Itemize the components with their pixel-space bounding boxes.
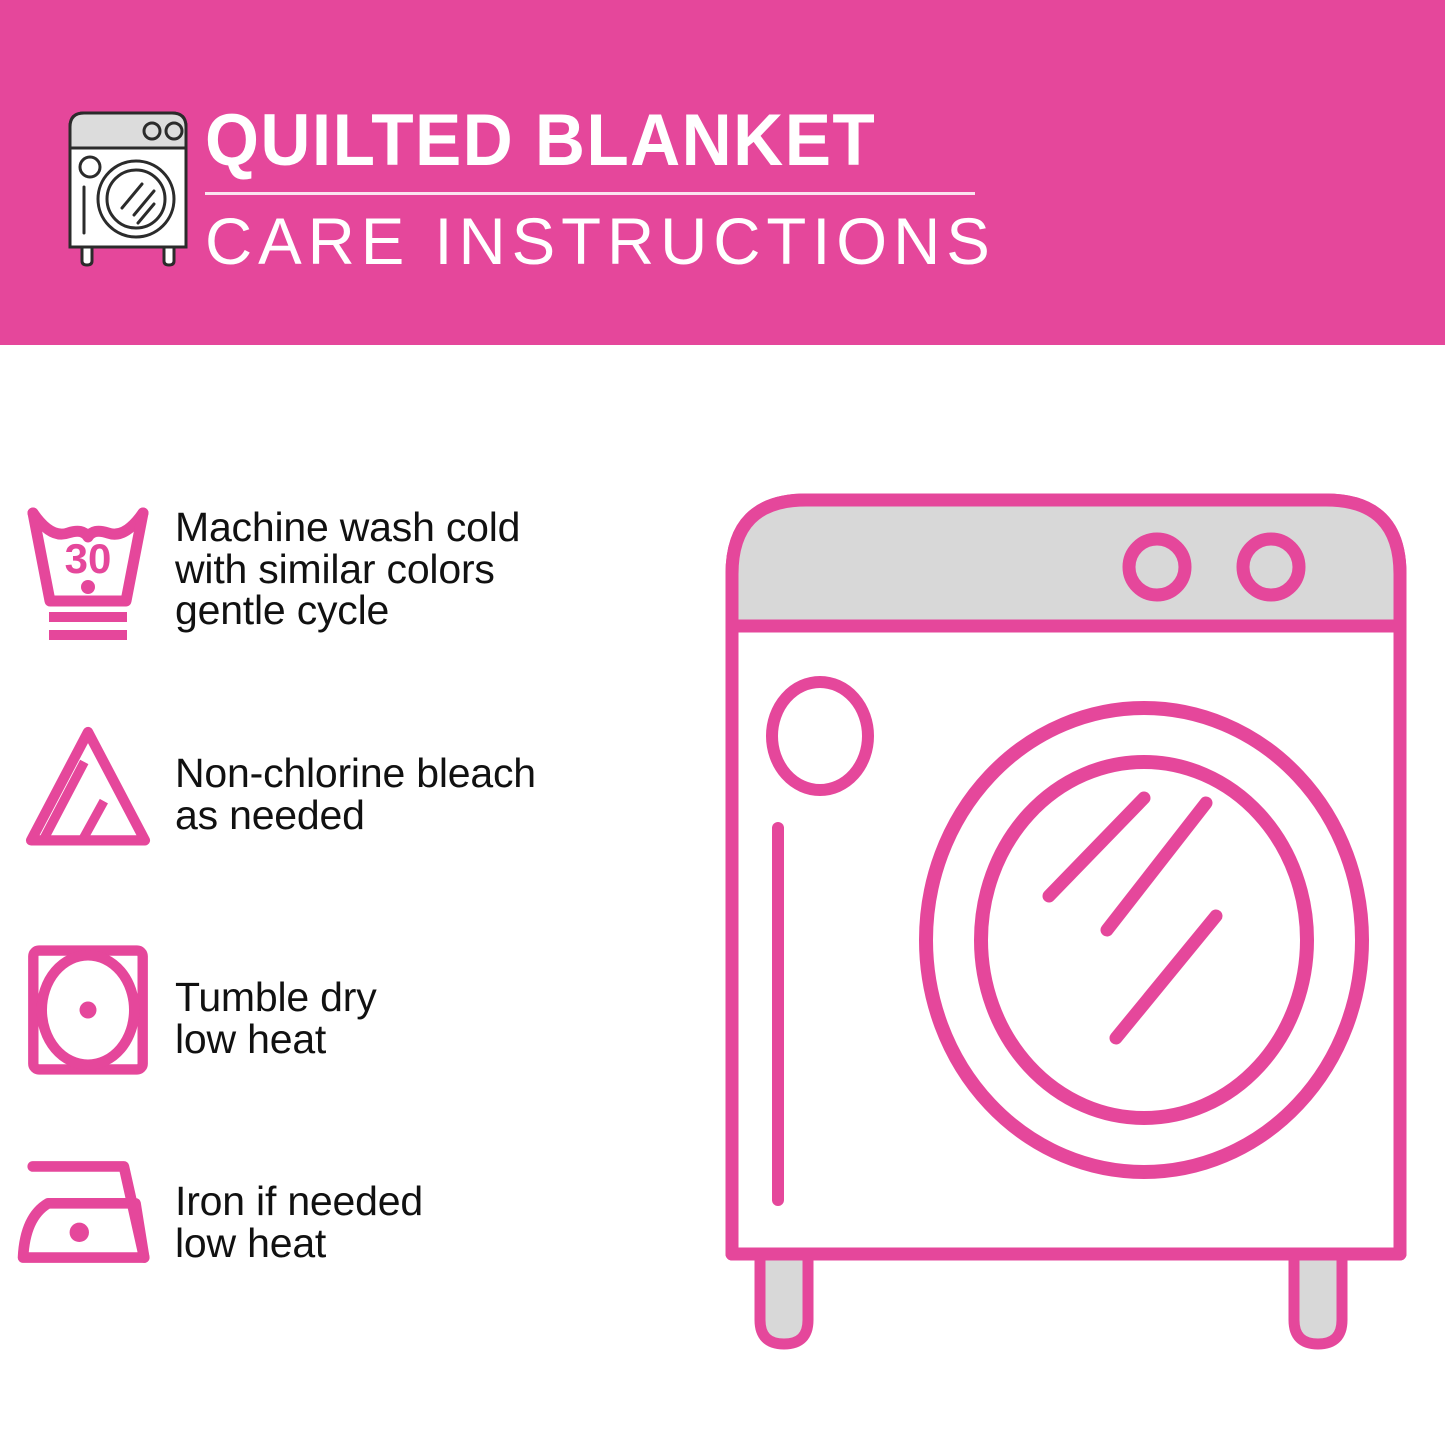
leg-right — [1294, 1254, 1342, 1344]
wash-tub-30-icon: 30 — [0, 491, 175, 645]
header-banner: QUILTED BLANKET CARE INSTRUCTIONS — [0, 0, 1445, 345]
care-text-line: with similar colors — [175, 549, 700, 591]
front-load-washing-machine-illustration — [716, 478, 1416, 1378]
care-text-line: Tumble dry — [175, 977, 700, 1019]
care-instruction-text: Machine wash cold with similar colors ge… — [175, 491, 700, 632]
svg-text:30: 30 — [64, 535, 111, 582]
page-title: QUILTED BLANKET — [205, 100, 956, 182]
care-text-line: Iron if needed — [175, 1181, 700, 1223]
page-subtitle: CARE INSTRUCTIONS — [205, 203, 987, 279]
header-text-block: QUILTED BLANKET CARE INSTRUCTIONS — [205, 100, 995, 279]
care-instruction-item: Tumble dry low heat — [0, 935, 700, 1081]
care-text-line: as needed — [175, 795, 700, 837]
knob-right — [1243, 539, 1299, 595]
care-text-line: Machine wash cold — [175, 507, 700, 549]
care-instruction-text: Non-chlorine bleach as needed — [175, 715, 700, 836]
care-instruction-text: Tumble dry low heat — [175, 935, 700, 1060]
care-instruction-item: 30 Machine wash cold with similar colors… — [0, 491, 700, 645]
care-instruction-item: Non-chlorine bleach as needed — [0, 715, 700, 859]
washing-machine-icon — [58, 103, 198, 268]
tumble-dry-icon — [0, 935, 175, 1081]
care-text-line: low heat — [175, 1223, 700, 1265]
knob-left — [1129, 539, 1185, 595]
bleach-triangle-icon — [0, 715, 175, 859]
care-text-line: gentle cycle — [175, 590, 700, 632]
care-text-line: low heat — [175, 1019, 700, 1061]
leg-left — [760, 1254, 808, 1344]
iron-icon — [0, 1145, 175, 1275]
care-instruction-list: 30 Machine wash cold with similar colors… — [0, 345, 700, 1445]
care-instruction-text: Iron if needed low heat — [175, 1145, 700, 1264]
title-divider — [205, 192, 975, 195]
care-instruction-item: Iron if needed low heat — [0, 1145, 700, 1275]
care-text-line: Non-chlorine bleach — [175, 753, 700, 795]
